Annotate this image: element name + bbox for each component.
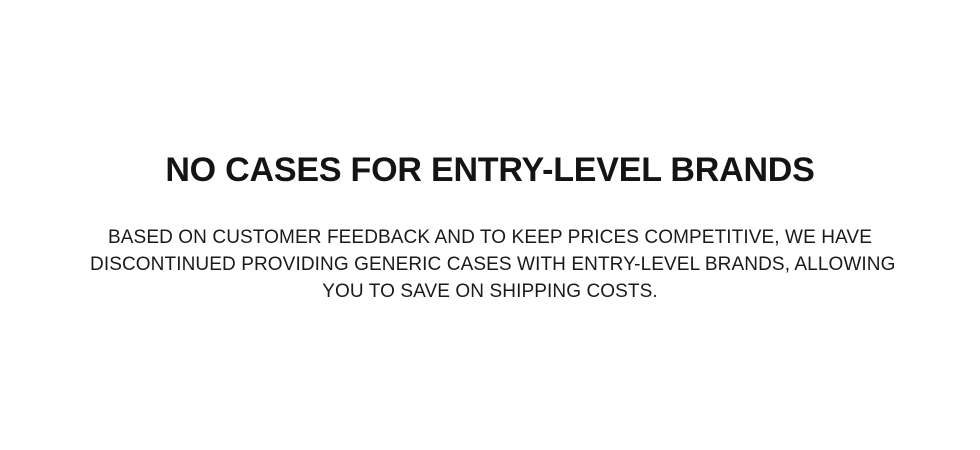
body-line: DISCONTINUED PROVIDING GENERIC CASES WIT…	[90, 251, 890, 278]
banner-body-text: BASED ON CUSTOMER FEEDBACK AND TO KEEP P…	[90, 190, 890, 305]
body-line: YOU TO SAVE ON SHIPPING COSTS.	[90, 278, 890, 305]
body-line: BASED ON CUSTOMER FEEDBACK AND TO KEEP P…	[90, 224, 890, 251]
promo-banner: NO CASES FOR ENTRY-LEVEL BRANDS BASED ON…	[0, 0, 980, 450]
banner-heading: NO CASES FOR ENTRY-LEVEL BRANDS	[0, 150, 980, 190]
banner-content: NO CASES FOR ENTRY-LEVEL BRANDS BASED ON…	[0, 0, 980, 305]
